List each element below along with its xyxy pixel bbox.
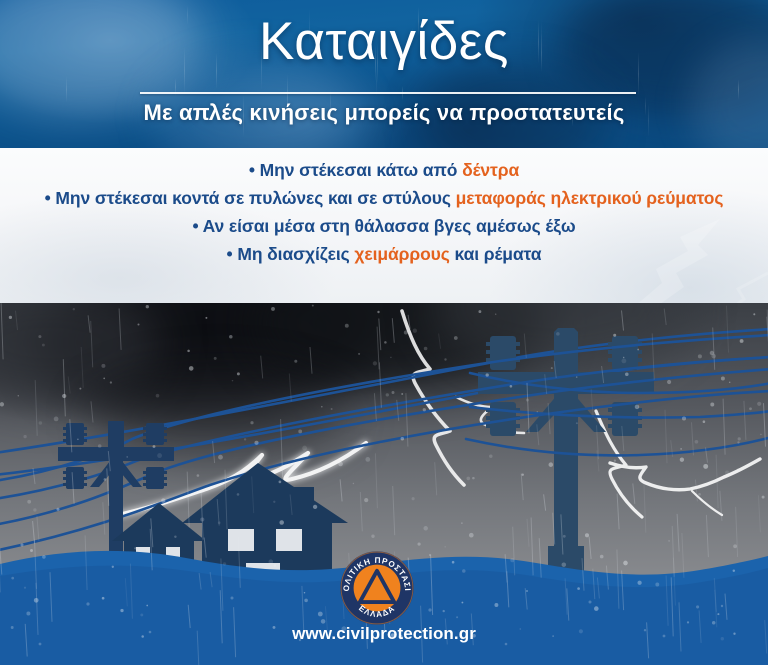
rain-streak [435, 462, 437, 495]
raindrop [740, 339, 744, 343]
rain-streak [397, 400, 399, 421]
rain-streak [758, 495, 760, 532]
rain-streak [63, 359, 65, 416]
rain-streak [716, 455, 718, 508]
raindrop [298, 430, 302, 434]
rain-streak [261, 356, 263, 379]
raindrop [271, 307, 275, 311]
raindrop [244, 438, 246, 440]
rain-streak [360, 492, 362, 531]
raindrop [721, 377, 725, 381]
safety-tip-text: Μην στέκεσαι κάτω από [260, 160, 462, 180]
raindrop [331, 408, 333, 410]
raindrop [218, 455, 223, 460]
raindrop [62, 394, 66, 398]
raindrop [737, 441, 739, 443]
raindrop [760, 434, 761, 435]
rain-streak [408, 315, 410, 329]
rain-streak [379, 319, 381, 351]
rain-streak [738, 79, 739, 101]
safety-tip-highlight: χειμάρρους [354, 244, 449, 264]
raindrop [103, 378, 105, 380]
raindrop [762, 496, 765, 499]
raindrop [365, 457, 370, 462]
rain-streak [727, 306, 729, 353]
raindrop [377, 311, 379, 313]
raindrop [23, 435, 26, 438]
raindrop [390, 357, 392, 359]
raindrop [232, 380, 234, 382]
raindrop [710, 351, 714, 355]
rain-streak [91, 321, 93, 367]
raindrop [371, 534, 374, 537]
raindrop [401, 393, 403, 395]
bullet-icon: • [249, 160, 260, 180]
raindrop [137, 323, 139, 325]
rain-streak [68, 377, 70, 394]
safety-tip-text: Μην στέκεσαι κοντά σε πυλώνες και σε στύ… [55, 188, 455, 208]
raindrop [749, 407, 752, 410]
raindrop [384, 341, 387, 344]
raindrop [110, 381, 112, 383]
rain-streak [35, 380, 37, 436]
raindrop [38, 335, 41, 338]
raindrop [250, 421, 253, 424]
safety-tip-text: Αν είσαι μέσα στη θάλασσα βγες αμέσως έξ… [203, 216, 576, 236]
storm-cloud [0, 303, 160, 403]
safety-tip-text: Μη διασχίζεις [237, 244, 354, 264]
raindrop [294, 360, 297, 363]
storm-cloud [40, 303, 370, 417]
raindrop [237, 372, 240, 375]
raindrop [146, 305, 149, 308]
rain-streak [377, 327, 379, 370]
safety-tip-item: • Μη διασχίζεις χειμάρρους και ρέματα [0, 240, 768, 268]
raindrop [703, 464, 708, 469]
raindrop [404, 330, 408, 334]
rain-streak [289, 374, 291, 402]
raindrop [725, 471, 729, 475]
raindrop [358, 353, 360, 355]
page-subtitle: Με απλές κινήσεις μπορείς να προστατευτε… [0, 100, 768, 126]
safety-tips-panel: • Μην στέκεσαι κάτω από δέντρα• Μην στέκ… [0, 148, 768, 303]
rain-streak [692, 422, 694, 455]
raindrop [392, 391, 395, 394]
raindrop [454, 336, 458, 340]
rain-streak [37, 516, 39, 541]
raindrop [353, 483, 354, 484]
rain-streak [1, 303, 3, 359]
raindrop [101, 364, 105, 368]
raindrop [42, 344, 45, 347]
rain-streak [695, 480, 697, 502]
raindrop [9, 316, 12, 319]
website-url[interactable]: www.civilprotection.gr [0, 624, 768, 644]
page-title: Καταιγίδες [0, 14, 768, 70]
raindrop [695, 440, 699, 444]
raindrop [703, 420, 706, 423]
rain-streak [374, 393, 376, 421]
rain-streak [706, 447, 708, 462]
raindrop [738, 437, 741, 440]
bullet-icon: • [227, 244, 238, 264]
rain-streak [439, 334, 441, 349]
raindrop [156, 394, 160, 398]
raindrop [27, 500, 31, 504]
raindrop [710, 403, 714, 407]
rain-streak [720, 491, 722, 521]
raindrop [321, 406, 323, 408]
raindrop [345, 324, 349, 328]
raindrop [423, 526, 428, 531]
rain-streak [119, 309, 121, 350]
raindrop [205, 317, 207, 319]
rain-streak [16, 311, 18, 330]
raindrop [412, 497, 415, 500]
rain-streak [81, 347, 83, 388]
rain-streak [88, 315, 90, 332]
civil-protection-logo: ΠΟΛΙΤΙΚΗ ΠΡΟΣΤΑΣΙΑ ΕΛΛΑΔΑ [338, 549, 416, 627]
raindrop [364, 498, 368, 502]
rain-streak [406, 393, 408, 447]
raindrop [753, 313, 755, 315]
raindrop [0, 402, 4, 406]
safety-tip-item: • Μην στέκεσαι κάτω από δέντρα [0, 156, 768, 184]
safety-tip-item: • Αν είσαι μέσα στη θάλασσα βγες αμέσως … [0, 212, 768, 240]
raindrop [33, 508, 36, 511]
safety-tip-text-trail: και ρέματα [450, 244, 542, 264]
raindrop [423, 408, 426, 411]
raindrop [461, 522, 462, 523]
rain-streak [66, 76, 67, 103]
raindrop [214, 357, 217, 360]
rain-streak [671, 440, 673, 457]
raindrop [312, 305, 314, 307]
rain-streak [393, 486, 395, 535]
raindrop [189, 366, 194, 371]
rain-streak [664, 309, 666, 326]
raindrop [302, 446, 307, 451]
raindrop [79, 388, 81, 390]
raindrop [254, 441, 258, 445]
raindrop [729, 382, 730, 383]
raindrop [424, 347, 428, 351]
rain-streak [375, 453, 377, 508]
raindrop [187, 350, 190, 353]
safety-tip-item: • Μην στέκεσαι κοντά σε πυλώνες και σε σ… [0, 184, 768, 212]
safety-tip-highlight: μεταφοράς ηλεκτρικού ρεύματος [456, 188, 724, 208]
raindrop [386, 393, 389, 396]
raindrop [711, 354, 716, 359]
rain-streak [91, 401, 93, 422]
raindrop [401, 437, 404, 440]
raindrop [373, 361, 377, 365]
rain-streak [744, 401, 746, 440]
safety-tips-list: • Μην στέκεσαι κάτω από δέντρα• Μην στέκ… [0, 156, 768, 268]
raindrop [698, 354, 702, 358]
rain-streak [764, 403, 766, 447]
raindrop [757, 402, 761, 406]
raindrop [667, 380, 671, 384]
raindrop [698, 493, 701, 496]
raindrop [680, 448, 682, 450]
raindrop [495, 313, 496, 314]
bullet-icon: • [192, 216, 202, 236]
rain-streak [213, 441, 215, 463]
raindrop [682, 416, 686, 420]
rain-streak [723, 399, 725, 455]
raindrop [413, 329, 417, 333]
rain-streak [379, 362, 381, 407]
poster-header: Καταιγίδες Με απλές κινήσεις μπορείς να … [0, 0, 768, 148]
raindrop [18, 395, 19, 396]
raindrop [39, 421, 42, 424]
raindrop [680, 458, 684, 462]
raindrop [478, 310, 481, 313]
storm-safety-poster: Καταιγίδες Με απλές κινήσεις μπορείς να … [0, 0, 768, 665]
bullet-icon: • [45, 188, 56, 208]
rain-streak [33, 468, 35, 484]
raindrop [229, 335, 233, 339]
raindrop [444, 358, 446, 360]
safety-tip-highlight: δέντρα [462, 160, 519, 180]
rain-streak [310, 347, 312, 374]
title-divider [140, 92, 636, 94]
rain-streak [713, 328, 715, 370]
raindrop [737, 468, 740, 471]
raindrop [73, 308, 75, 310]
rain-streak [392, 318, 394, 343]
